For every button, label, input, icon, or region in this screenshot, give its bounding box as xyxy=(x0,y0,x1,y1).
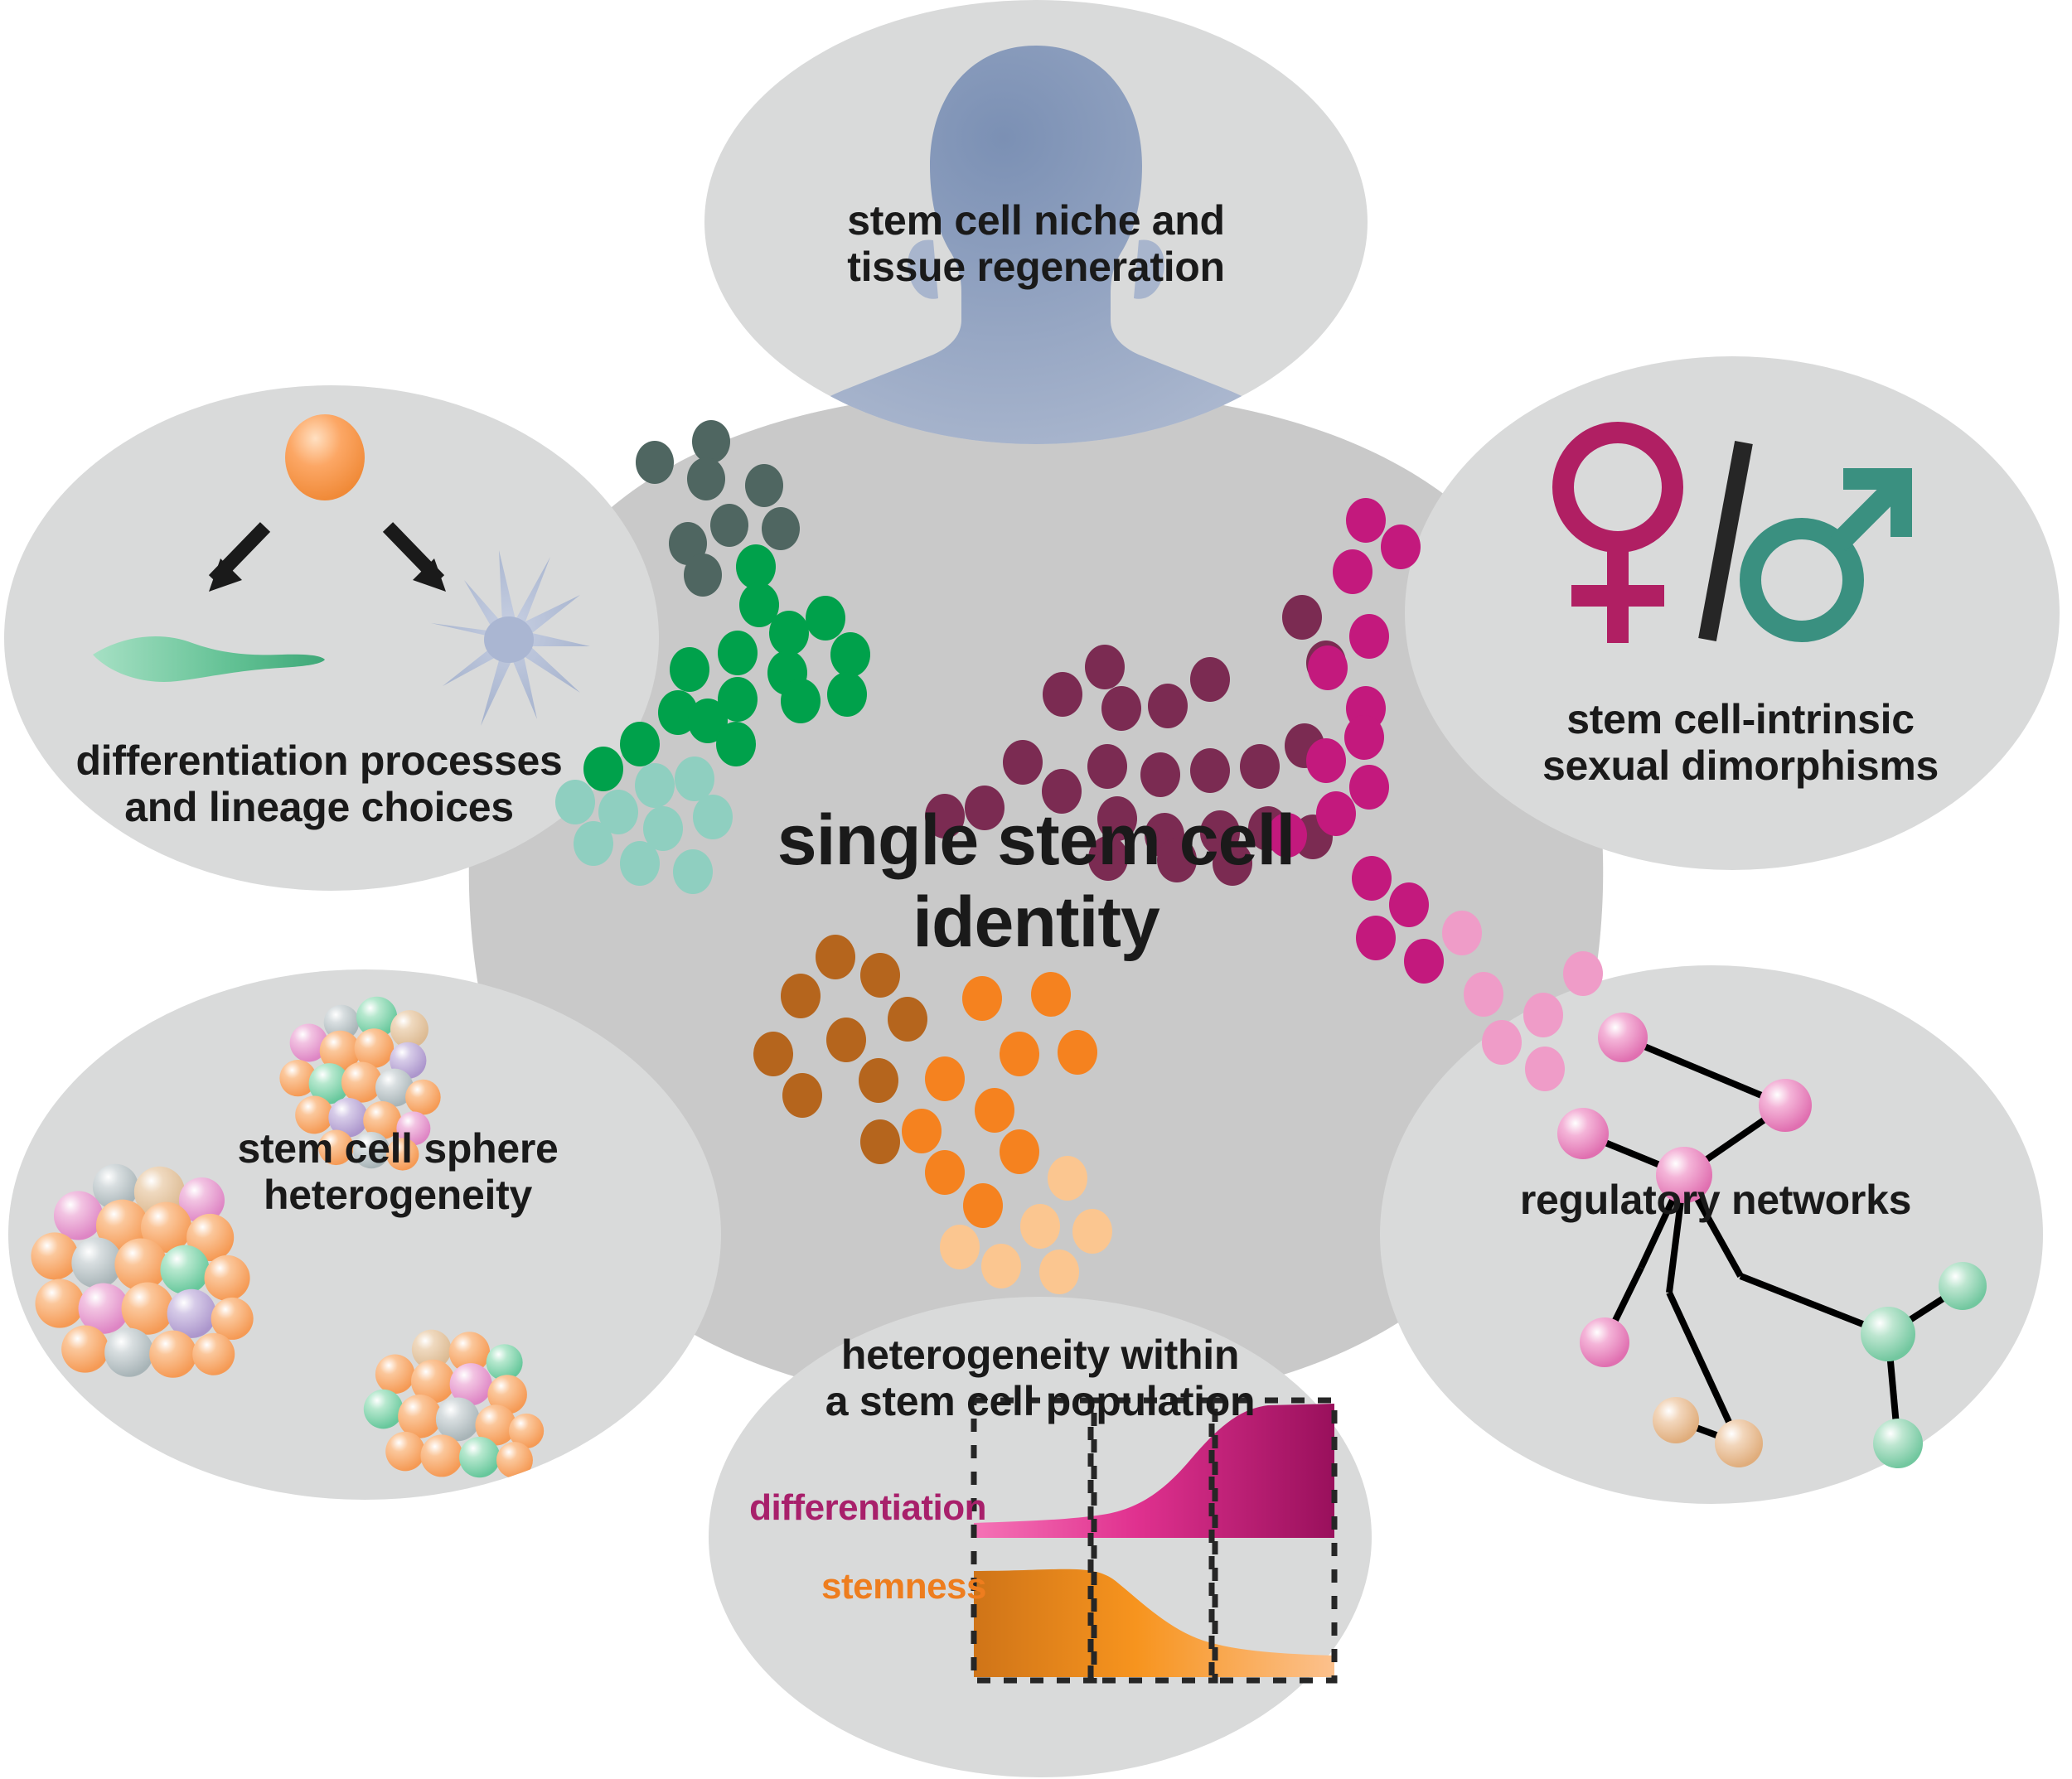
stem-cell-identity-figure: stem cell niche and tissue regeneration … xyxy=(0,0,2072,1779)
bubble-regulatory-networks[interactable] xyxy=(1380,965,2043,1504)
bubble-sphere-heterogeneity[interactable] xyxy=(8,969,721,1500)
bubble-label-niche: stem cell niche and tissue regeneration xyxy=(829,197,1243,290)
chart-legend-stemness: stemness xyxy=(655,1566,986,1607)
bubble-label-differentiation: differentiation processes and lineage ch… xyxy=(12,737,626,830)
bubble-label-sexual-dimorphism: stem cell-intrinsic sexual dimorphisms xyxy=(1484,696,1997,789)
chart-legend-differentiation: differentiation xyxy=(655,1487,986,1528)
bubble-label-population-heterogeneity: heterogeneity within a stem cell populat… xyxy=(754,1332,1326,1424)
bubble-label-regulatory-networks: regulatory networks xyxy=(1459,1177,1973,1223)
page-title: single stem cell identity xyxy=(688,800,1384,964)
progenitor-sphere-icon xyxy=(285,414,365,500)
bubble-label-sphere-heterogeneity: stem cell sphere heterogeneity xyxy=(166,1125,630,1218)
bubble-sexual-dimorphism[interactable] xyxy=(1405,356,2060,870)
